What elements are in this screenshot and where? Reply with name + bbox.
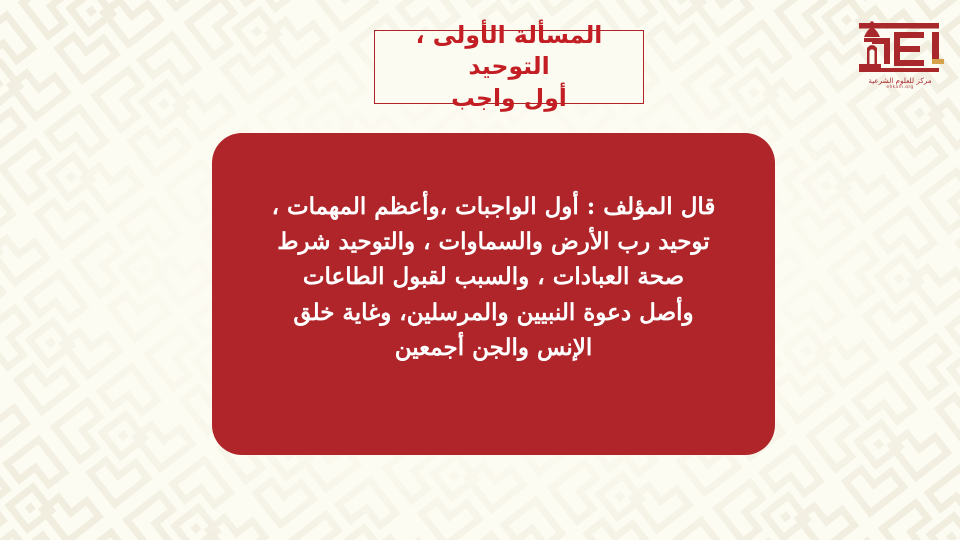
slide-title-line-2: أول واجب bbox=[385, 83, 633, 114]
content-card: قال المؤلف : أول الواجبات ،وأعظم المهمات… bbox=[212, 133, 775, 455]
content-line-1: قال المؤلف : أول الواجبات ،وأعظم المهمات… bbox=[240, 189, 747, 224]
logo-url: ehkam.org bbox=[848, 85, 952, 90]
content-body: قال المؤلف : أول الواجبات ،وأعظم المهمات… bbox=[240, 189, 747, 365]
content-line-5: الإنس والجن أجمعين bbox=[240, 330, 747, 365]
slide-root: المسألة الأولى ، التوحيد أول واجب bbox=[0, 0, 960, 540]
ehkam-wordmark-icon bbox=[848, 18, 952, 76]
organization-logo: مركز للعلوم الشرعية ehkam.org bbox=[848, 18, 952, 100]
slide-title-line-1: المسألة الأولى ، التوحيد bbox=[385, 20, 633, 83]
content-line-3: صحة العبادات ، والسبب لقبول الطاعات bbox=[240, 259, 747, 294]
content-line-2: توحيد رب الأرض والسماوات ، والتوحيد شرط bbox=[240, 224, 747, 259]
content-line-4: وأصل دعوة النبيين والمرسلين، وغاية خلق bbox=[240, 295, 747, 330]
slide-title: المسألة الأولى ، التوحيد أول واجب bbox=[385, 20, 633, 114]
slide-title-box: المسألة الأولى ، التوحيد أول واجب bbox=[374, 30, 644, 104]
